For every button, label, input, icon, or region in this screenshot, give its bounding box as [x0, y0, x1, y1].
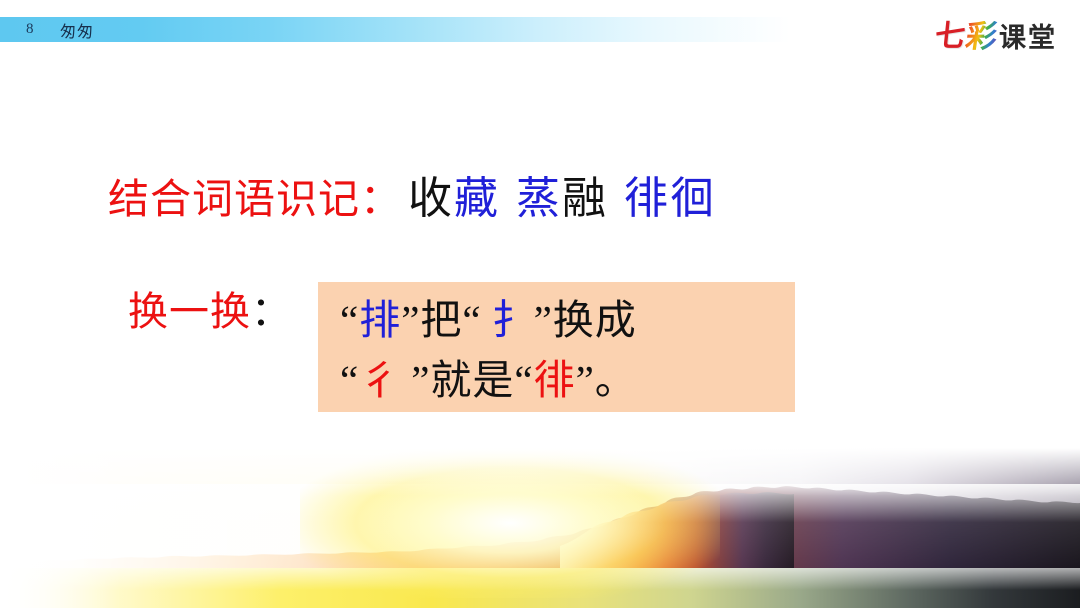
photo-treeline — [0, 484, 1080, 580]
word-char-huai: 徊 — [670, 174, 716, 223]
slide-root: 8 匆匆 七 彩 课 堂 结合词语识记： 收藏蒸融徘徊 换一换： “排”把“扌”… — [0, 0, 1080, 608]
answer-l1-char-pai: 排 — [359, 297, 401, 343]
brand-char-qi: 七 — [933, 22, 966, 52]
vocabulary-label: 结合词语识记： — [108, 165, 402, 225]
lesson-header-bar: 8 匆匆 — [0, 17, 790, 42]
answer-line-1: “排”把“扌”换成 — [340, 290, 777, 350]
swap-label: 换一换： — [128, 290, 292, 334]
word-char-zheng: 蒸 — [516, 174, 562, 223]
vocabulary-words: 收藏蒸融徘徊 — [408, 162, 716, 226]
brand-char-cai: 彩 — [964, 21, 999, 52]
word-char-pai: 徘 — [624, 174, 670, 223]
answer-l2-end: ”。 — [576, 357, 637, 403]
vocabulary-row: 结合词语识记： 收藏蒸融徘徊 — [108, 162, 716, 226]
swap-label-colon: ： — [251, 290, 292, 334]
photo-ground-fade — [0, 568, 1080, 608]
answer-l2-mid: ”就是“ — [411, 357, 533, 403]
answer-l1-quote-open: “ — [340, 297, 359, 343]
swap-label-text: 换一换 — [128, 290, 251, 334]
answer-l1-radical-shou: 扌 — [492, 297, 534, 343]
word-char-cang: 藏 — [454, 174, 500, 223]
brand-char-tang: 堂 — [1028, 25, 1055, 52]
word-char-rong: 融 — [562, 174, 608, 223]
answer-l2-radical-chi: 彳 — [359, 357, 401, 403]
answer-l2-char-pai: 徘 — [534, 357, 576, 403]
brand-logo: 七 彩 课 堂 — [935, 14, 1055, 52]
answer-l2-quote-open: “ — [340, 357, 359, 403]
answer-line-2: “彳”就是“徘”。 — [340, 350, 777, 410]
swap-exercise-row: 换一换： — [128, 290, 292, 334]
brand-char-ke: 课 — [999, 25, 1026, 52]
answer-l1-mid: ”把“ — [401, 297, 481, 343]
lesson-title: 匆匆 — [60, 18, 94, 42]
landscape-photo — [0, 448, 1080, 608]
lesson-number: 8 — [26, 21, 34, 38]
answer-l1-end: ”换成 — [534, 297, 637, 343]
answer-box: “排”把“扌”换成 “彳”就是“徘”。 — [318, 282, 795, 412]
word-char-shou: 收 — [408, 174, 454, 223]
